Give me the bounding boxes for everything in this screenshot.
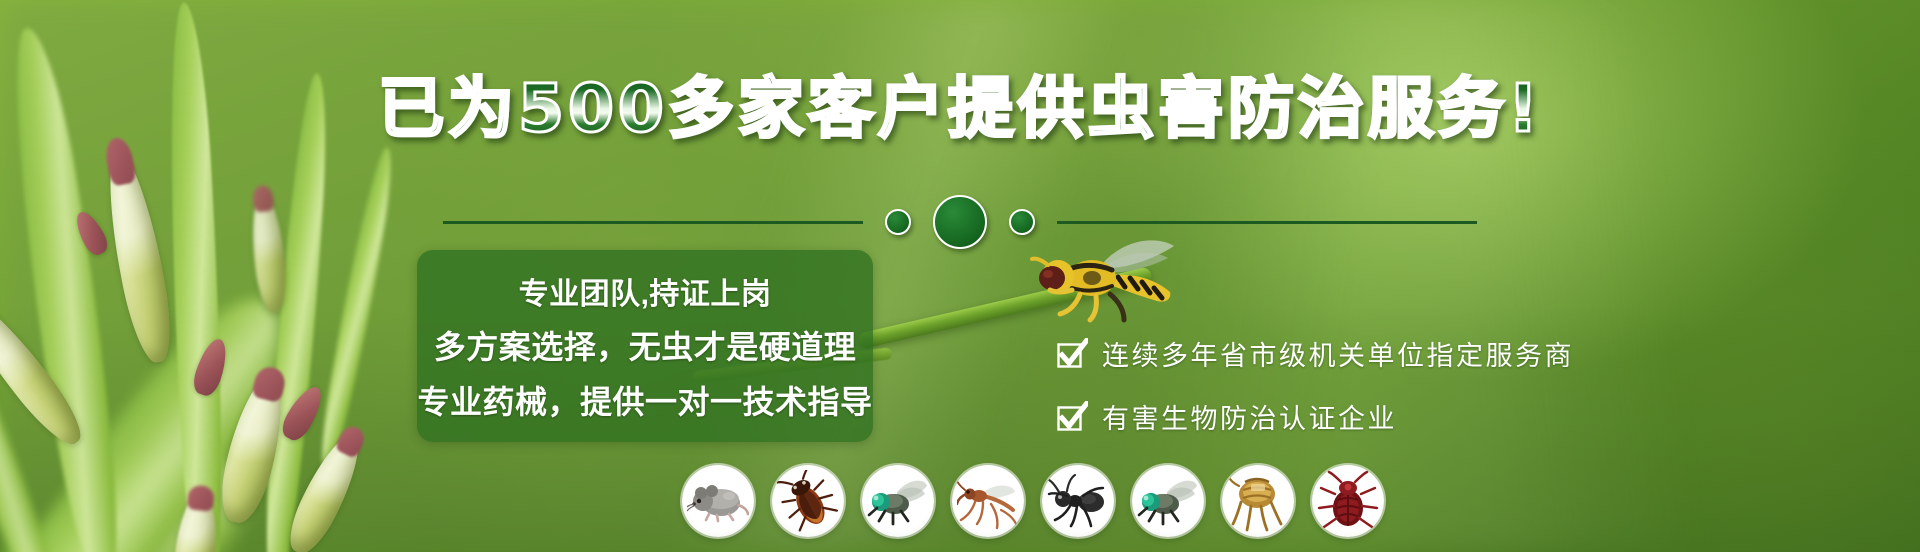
pest-item[interactable] (862, 465, 934, 537)
credential-row: 有害生物防治认证企业 (1056, 397, 1574, 436)
selling-point-3: 专业药械，提供一对一技术指导 (417, 377, 872, 423)
bedbug-icon (1317, 470, 1379, 532)
checkbox-check-icon (1056, 401, 1088, 433)
fly-icon (1137, 470, 1199, 532)
checkbox-check-icon (1056, 338, 1088, 370)
cockroach-icon (777, 470, 839, 532)
pest-item[interactable] (952, 465, 1024, 537)
pest-item[interactable] (1312, 465, 1384, 537)
pest-item[interactable] (682, 465, 754, 537)
ant-icon (1047, 470, 1109, 532)
credential-row: 连续多年省市级机关单位指定服务商 (1056, 334, 1574, 373)
fly-icon (867, 470, 929, 532)
divider-dot-small-left (885, 209, 911, 235)
mosquito-icon (957, 470, 1019, 532)
divider-dot-large (933, 195, 987, 249)
divider-rule-left (443, 221, 863, 224)
mouse-icon (687, 470, 749, 532)
selling-points-panel: 专业团队,持证上岗 多方案选择，无虫才是硬道理 专业药械，提供一对一技术指导 (417, 250, 873, 442)
divider-rule-right (1057, 221, 1477, 224)
selling-point-1: 专业团队,持证上岗 (519, 269, 772, 313)
banner-headline-text: 已为500多家客户提供虫害防治服务! (378, 70, 1542, 147)
selling-point-2: 多方案选择，无虫才是硬道理 (434, 322, 857, 368)
credentials-list: 连续多年省市级机关单位指定服务商 有害生物防治认证企业 (1056, 334, 1574, 436)
flea-icon (1227, 470, 1289, 532)
pest-item[interactable] (1042, 465, 1114, 537)
pest-item[interactable] (1132, 465, 1204, 537)
credential-label: 连续多年省市级机关单位指定服务商 (1102, 334, 1574, 373)
pest-icon-strip (682, 465, 1384, 537)
divider-row (0, 195, 1920, 249)
pest-item[interactable] (772, 465, 844, 537)
credential-label: 有害生物防治认证企业 (1102, 397, 1397, 436)
banner-headline: 已为500多家客户提供虫害防治服务! (0, 76, 1920, 142)
promo-banner: 已为500多家客户提供虫害防治服务! 专业团队,持证上岗 多方案选择，无虫才是硬… (0, 0, 1920, 552)
divider-dot-small-right (1009, 209, 1035, 235)
pest-item[interactable] (1222, 465, 1294, 537)
